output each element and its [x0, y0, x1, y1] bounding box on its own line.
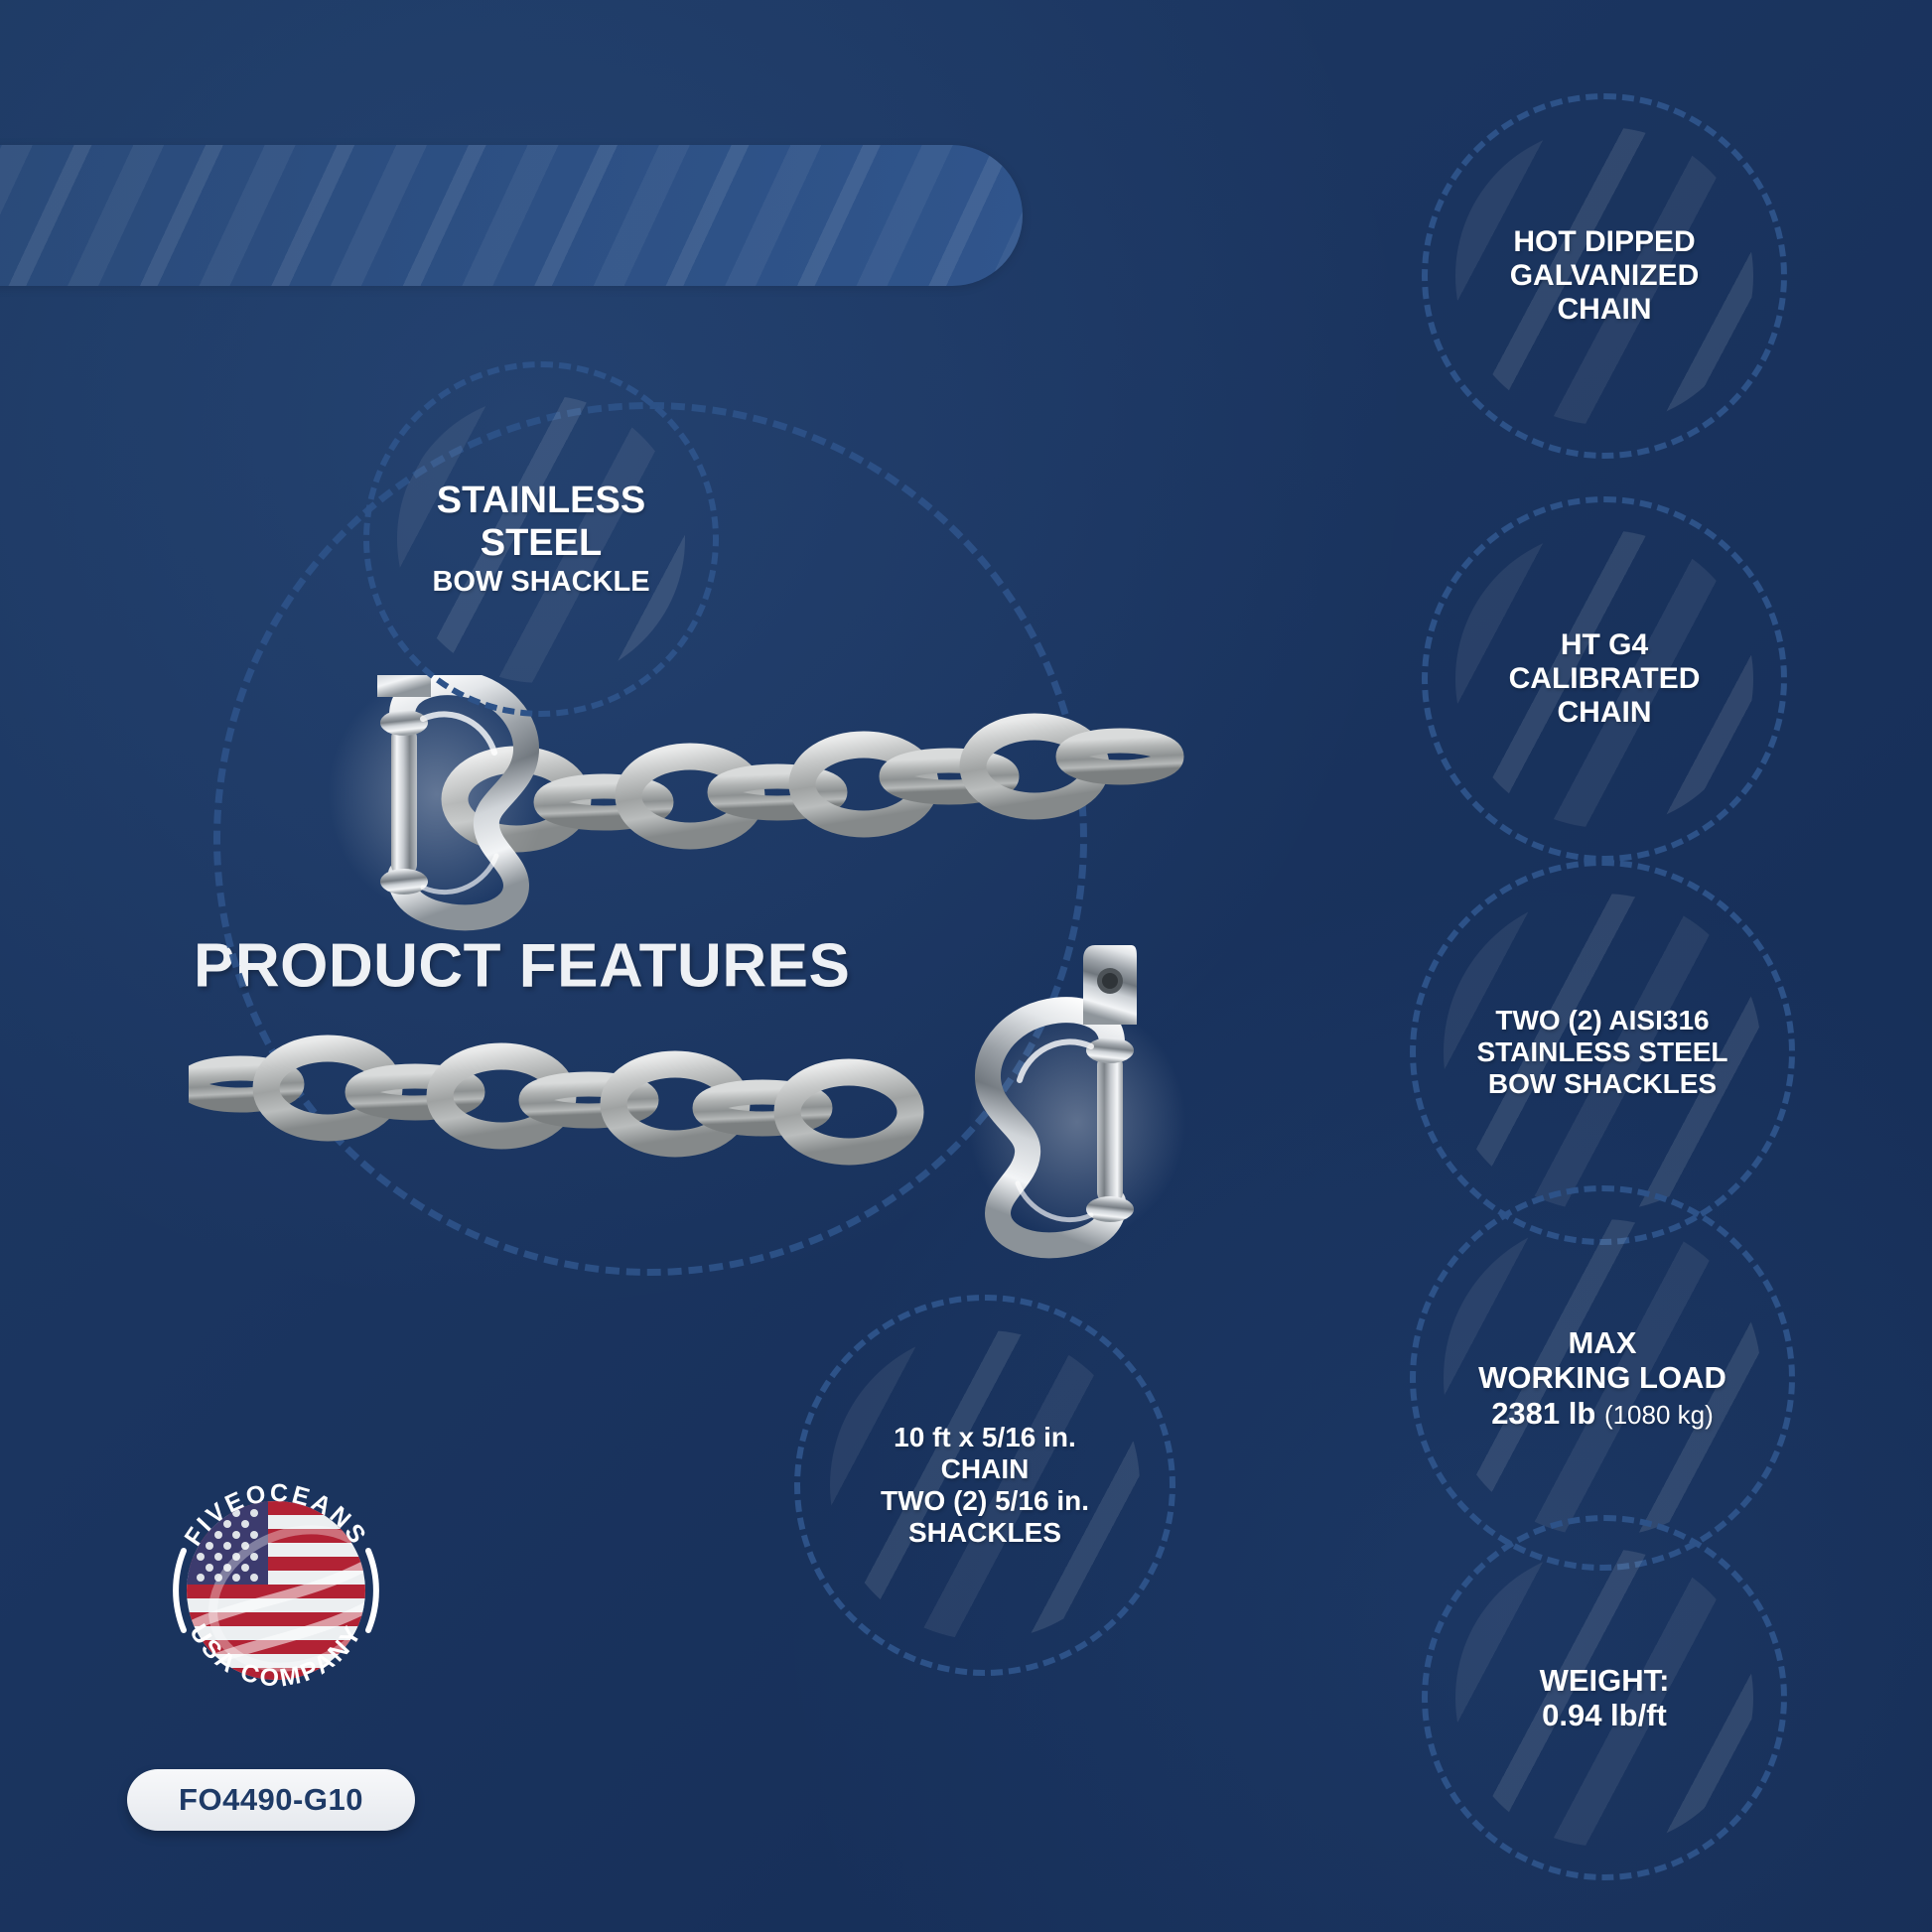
- bubble-subline: BOW SHACKLE: [432, 566, 649, 599]
- bubble-line: 0.94 lb/ft: [1540, 1698, 1670, 1732]
- bubble-line: WEIGHT:: [1540, 1663, 1670, 1698]
- banner-stripe-texture: [0, 145, 1023, 286]
- bubble-line: MAX: [1478, 1325, 1726, 1360]
- product-photo: [189, 675, 1330, 1291]
- bubble-two-aisi316-bow-shackles[interactable]: TWO (2) AISI316 STAINLESS STEEL BOW SHAC…: [1444, 894, 1761, 1211]
- bubble-text: MAX WORKING LOAD 2381 lb (1080 kg): [1464, 1325, 1740, 1431]
- bubble-line: BOW SHACKLES: [1476, 1068, 1727, 1100]
- bubble-line: STEEL: [432, 522, 649, 565]
- bubble-line: CHAIN: [881, 1453, 1089, 1485]
- chain-row-bottom: [189, 945, 1186, 1245]
- bubble-text: WEIGHT: 0.94 lb/ft: [1526, 1663, 1684, 1733]
- bubble-line: CALIBRATED: [1509, 662, 1701, 696]
- bubble-chain-and-shackle-size[interactable]: 10 ft x 5/16 in. CHAIN TWO (2) 5/16 in. …: [830, 1330, 1140, 1640]
- header-banner: [0, 145, 1023, 286]
- bubble-line: TWO (2) AISI316: [1476, 1005, 1727, 1036]
- bubble-text: STAINLESS STEEL BOW SHACKLE: [418, 480, 663, 599]
- max-load-unit: (1080 kg): [1604, 1400, 1714, 1430]
- bubble-line: HT G4: [1509, 628, 1701, 662]
- bubble-text: 10 ft x 5/16 in. CHAIN TWO (2) 5/16 in. …: [867, 1422, 1103, 1549]
- bubble-text: HT G4 CALIBRATED CHAIN: [1495, 628, 1715, 731]
- bubble-hot-dipped-galvanized-chain[interactable]: HOT DIPPED GALVANIZED CHAIN: [1455, 127, 1753, 425]
- bubble-line: CHAIN: [1509, 696, 1701, 730]
- max-load-value-row: 2381 lb (1080 kg): [1478, 1396, 1726, 1431]
- infographic-canvas: PRODUCT FEATURES: [0, 0, 1932, 1932]
- bubble-text: TWO (2) AISI316 STAINLESS STEEL BOW SHAC…: [1462, 1005, 1741, 1100]
- bow-shackle-bottom: [968, 945, 1186, 1245]
- bubble-ht-g4-calibrated-chain[interactable]: HT G4 CALIBRATED CHAIN: [1455, 530, 1753, 828]
- bubble-line: GALVANIZED: [1510, 259, 1700, 293]
- product-illustration: [189, 675, 1330, 1291]
- usa-company-badge: FIVEOCEANS USA COMPANY: [147, 1459, 405, 1718]
- max-load-value: 2381 lb: [1491, 1396, 1595, 1431]
- bubble-max-working-load[interactable]: MAX WORKING LOAD 2381 lb (1080 kg): [1444, 1219, 1761, 1537]
- bubble-line: TWO (2) 5/16 in.: [881, 1485, 1089, 1517]
- bubble-text: HOT DIPPED GALVANIZED CHAIN: [1496, 225, 1714, 328]
- bubble-line: SHACKLES: [881, 1517, 1089, 1549]
- bubble-stainless-steel-bow-shackle[interactable]: STAINLESS STEEL BOW SHACKLE: [397, 395, 685, 683]
- bubble-line: WORKING LOAD: [1478, 1360, 1726, 1395]
- usa-flag-circle-icon: FIVEOCEANS USA COMPANY: [147, 1459, 405, 1718]
- chain-row-top: [328, 675, 1172, 917]
- bubble-weight-per-foot[interactable]: WEIGHT: 0.94 lb/ft: [1455, 1549, 1753, 1847]
- sku-badge: FO4490-G10: [127, 1769, 415, 1831]
- bubble-line: STAINLESS STEEL: [1476, 1036, 1727, 1068]
- bubble-line: CHAIN: [1510, 293, 1700, 327]
- bubble-line: STAINLESS: [432, 480, 649, 522]
- bow-shackle-top: [328, 675, 546, 917]
- bubble-line: HOT DIPPED: [1510, 225, 1700, 259]
- sku-code: FO4490-G10: [179, 1782, 363, 1818]
- bubble-line: 10 ft x 5/16 in.: [881, 1422, 1089, 1453]
